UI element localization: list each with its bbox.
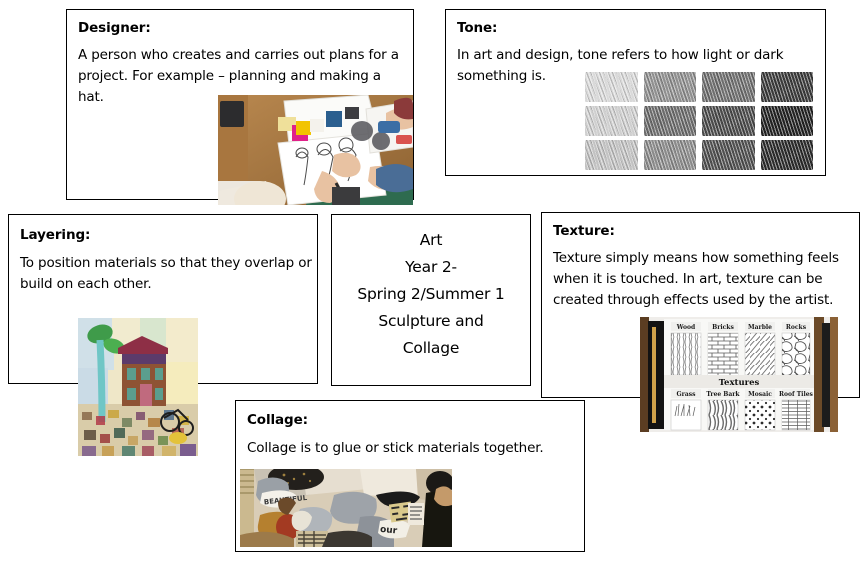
tone-box: Tone: In art and design, tone refers to … <box>445 9 826 176</box>
svg-text:Rocks: Rocks <box>786 324 807 331</box>
svg-text:Bricks: Bricks <box>712 324 734 331</box>
knowledge-organiser-page: Designer: A person who creates and carri… <box>0 0 868 570</box>
layering-definition: To position materials so that they overl… <box>20 253 315 295</box>
tone-swatch-r1-c2 <box>644 72 697 102</box>
designers-sketching-photo <box>218 95 413 205</box>
svg-text:Roof Tiles: Roof Tiles <box>779 391 814 398</box>
svg-text:Textures: Textures <box>719 378 760 388</box>
tone-swatch-r2-c1 <box>585 106 638 136</box>
pencil-tone-swatch-grid <box>585 72 813 170</box>
title-line-term: Spring 2/Summer 1 <box>357 281 504 308</box>
title-line-year: Year 2- <box>405 254 457 281</box>
tone-swatch-r2-c3 <box>702 106 755 136</box>
title-lines: Art Year 2- Spring 2/Summer 1 Sculpture … <box>332 215 530 385</box>
designer-term: Designer: <box>78 20 151 36</box>
title-line-subject: Art <box>420 227 442 254</box>
mixed-media-collage-artwork: BEAUTIFUL our <box>240 469 452 547</box>
svg-text:Mosaic: Mosaic <box>748 391 772 398</box>
title-line-topic-1: Sculpture and <box>378 308 483 335</box>
title-line-topic-2: Collage <box>403 335 459 362</box>
svg-text:Wood: Wood <box>676 324 696 331</box>
texture-definition: Texture simply means how something feels… <box>553 248 858 311</box>
texture-term: Texture: <box>553 223 615 239</box>
title-box: Art Year 2- Spring 2/Summer 1 Sculpture … <box>331 214 531 386</box>
svg-text:Tree Bark: Tree Bark <box>706 391 740 398</box>
collage-definition: Collage is to glue or stick materials to… <box>247 438 582 459</box>
tone-swatch-r3-c2 <box>644 140 697 170</box>
tone-swatch-r3-c4 <box>761 140 814 170</box>
collage-term: Collage: <box>247 412 308 428</box>
tone-swatch-r1-c4 <box>761 72 814 102</box>
svg-text:Marble: Marble <box>748 324 772 331</box>
texture-chart-photo: Wood Bricks Marble Rocks Textures Grass … <box>640 317 838 432</box>
svg-text:our: our <box>380 525 399 537</box>
layering-term: Layering: <box>20 227 90 243</box>
svg-text:Grass: Grass <box>677 391 697 398</box>
tone-swatch-r3-c3 <box>702 140 755 170</box>
tone-swatch-r1-c1 <box>585 72 638 102</box>
house-paper-collage-artwork <box>78 318 198 456</box>
tone-swatch-r3-c1 <box>585 140 638 170</box>
tone-swatch-r2-c4 <box>761 106 814 136</box>
tone-term: Tone: <box>457 20 497 36</box>
tone-swatch-r2-c2 <box>644 106 697 136</box>
tone-swatch-r1-c3 <box>702 72 755 102</box>
